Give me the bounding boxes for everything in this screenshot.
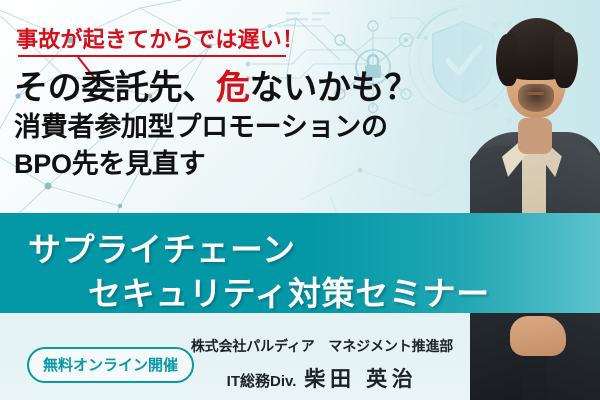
headline-line-1-prefix: その委託先、	[14, 69, 216, 107]
photo-mouth	[527, 92, 544, 95]
headline-line-1-suffix: ないかも？	[250, 69, 418, 107]
speaker-info: 株式会社パルディア マネジメント推進部 IT総務Div. 柴田 英治	[182, 336, 462, 393]
free-online-badge: 無料オンライン開催	[27, 347, 194, 383]
seminar-banner: 事故が起きてからでは遅い！ その委託先、危ないかも？ 消費者参加型プロモーション…	[0, 0, 600, 400]
seminar-title-line-1: サプライチェーン	[28, 223, 296, 271]
speaker-organization: 株式会社パルディア マネジメント推進部	[182, 336, 462, 356]
headline-line-2: 消費者参加型プロモーションの	[14, 111, 418, 144]
kicker-text: 事故が起きてからでは遅い！	[16, 22, 304, 54]
photo-hair-left	[496, 34, 518, 86]
headline-block: その委託先、危ないかも？ 消費者参加型プロモーションの BPO先を見直す	[14, 70, 418, 182]
photo-hair-right	[554, 32, 578, 88]
speaker-name: 柴田 英治	[298, 363, 417, 393]
seminar-title-bar: サプライチェーン セキュリティ対策セミナー	[0, 213, 600, 313]
photo-beard	[518, 84, 554, 112]
kicker-underline	[18, 55, 286, 57]
speaker-name-row: IT総務Div. 柴田 英治	[182, 363, 462, 393]
kicker-block: 事故が起きてからでは遅い！	[16, 22, 304, 54]
seminar-title-line-2: セキュリティ対策セミナー	[88, 267, 490, 315]
headline-line-3: BPO先を見直す	[14, 148, 418, 181]
speaker-photo	[470, 0, 600, 400]
headline-line-1: その委託先、危ないかも？	[14, 70, 418, 107]
headline-danger-char: 危	[216, 69, 250, 107]
photo-hands	[510, 316, 566, 356]
speaker-division: IT総務Div.	[227, 370, 297, 391]
photo-neck	[518, 118, 552, 154]
